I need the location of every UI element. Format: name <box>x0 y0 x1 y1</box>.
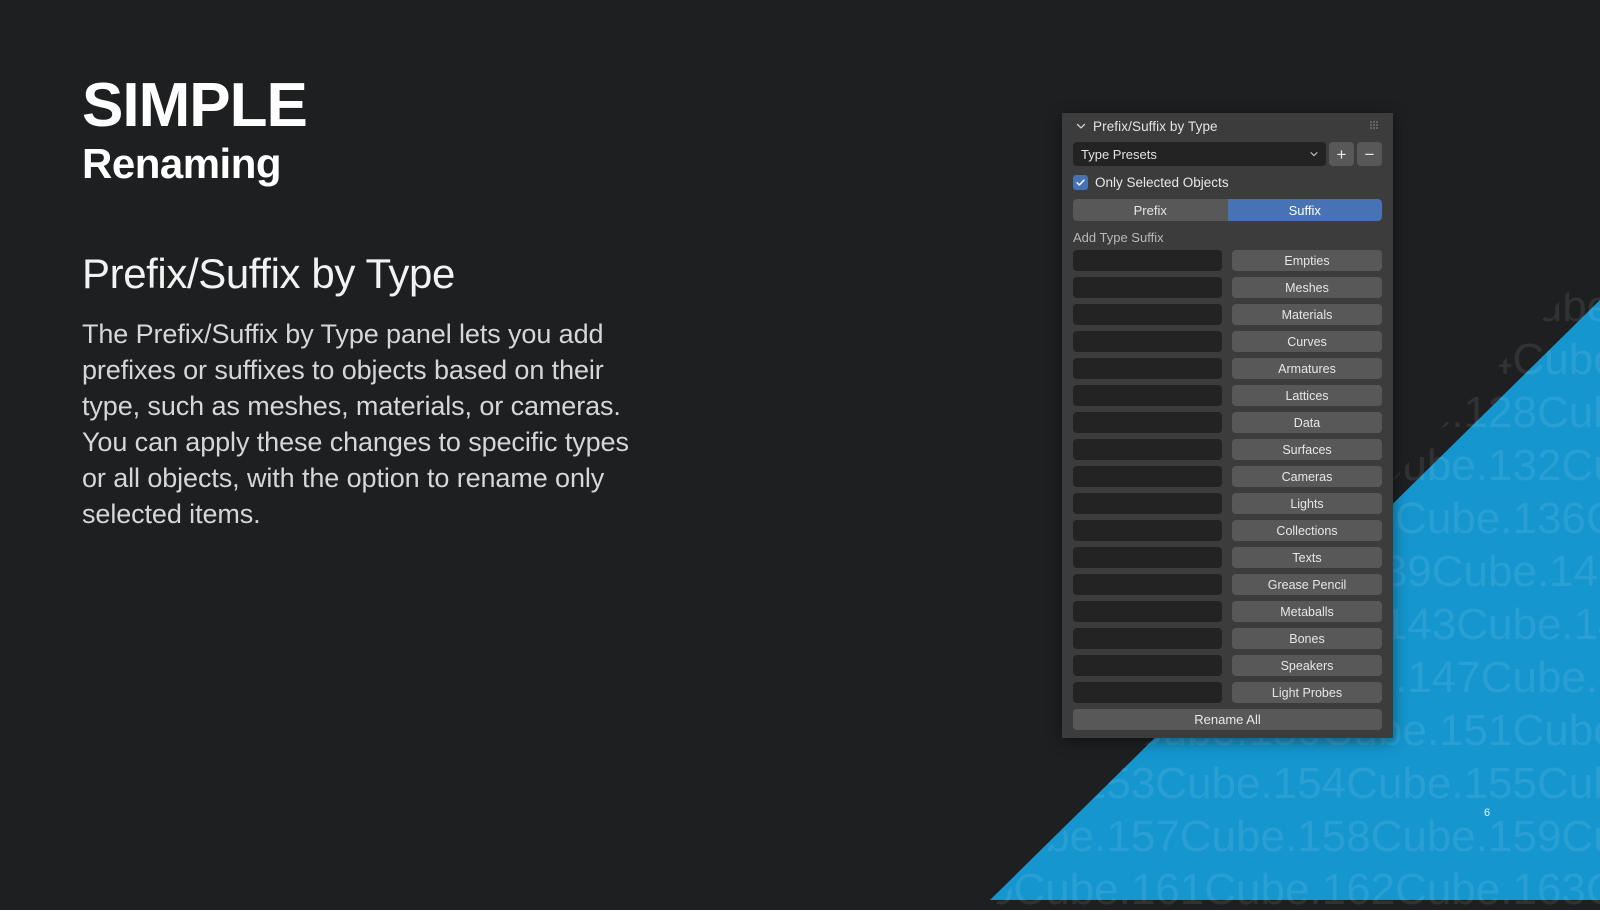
type-affix-input-data[interactable] <box>1073 412 1222 433</box>
type-affix-input-light-probes[interactable] <box>1073 682 1222 703</box>
type-row: Metaballs <box>1073 601 1382 622</box>
type-row: Speakers <box>1073 655 1382 676</box>
type-row: Cameras <box>1073 466 1382 487</box>
rename-all-button[interactable]: Rename All <box>1073 709 1382 730</box>
page-number: 6 <box>1484 807 1490 819</box>
type-row: Materials <box>1073 304 1382 325</box>
type-row: Texts <box>1073 547 1382 568</box>
type-button-meshes[interactable]: Meshes <box>1232 277 1382 298</box>
type-button-speakers[interactable]: Speakers <box>1232 655 1382 676</box>
type-presets-row: Type Presets + − <box>1073 142 1382 166</box>
type-affix-input-empties[interactable] <box>1073 250 1222 271</box>
section-heading: Prefix/Suffix by Type <box>82 250 455 298</box>
remove-preset-button[interactable]: − <box>1357 142 1382 166</box>
type-affix-input-lights[interactable] <box>1073 493 1222 514</box>
type-row: Bones <box>1073 628 1382 649</box>
type-presets-dropdown[interactable]: Type Presets <box>1073 142 1326 166</box>
type-rows-list: EmptiesMeshesMaterialsCurvesArmaturesLat… <box>1073 250 1382 703</box>
type-row: Surfaces <box>1073 439 1382 460</box>
type-row: Empties <box>1073 250 1382 271</box>
type-affix-input-surfaces[interactable] <box>1073 439 1222 460</box>
type-button-armatures[interactable]: Armatures <box>1232 358 1382 379</box>
type-row: Lights <box>1073 493 1382 514</box>
hero-subtitle: Renaming <box>82 138 702 190</box>
type-affix-input-metaballs[interactable] <box>1073 601 1222 622</box>
type-row: Lattices <box>1073 385 1382 406</box>
panel-header[interactable]: Prefix/Suffix by Type <box>1062 113 1393 139</box>
drag-grip-icon[interactable] <box>1370 121 1381 130</box>
type-row: Curves <box>1073 331 1382 352</box>
type-row: Light Probes <box>1073 682 1382 703</box>
type-row: Armatures <box>1073 358 1382 379</box>
type-row: Data <box>1073 412 1382 433</box>
type-affix-input-speakers[interactable] <box>1073 655 1222 676</box>
type-button-surfaces[interactable]: Surfaces <box>1232 439 1382 460</box>
prefix-suffix-panel: Prefix/Suffix by Type Type Presets + − <box>1062 113 1393 738</box>
tab-suffix[interactable]: Suffix <box>1228 199 1383 221</box>
type-button-texts[interactable]: Texts <box>1232 547 1382 568</box>
type-affix-input-texts[interactable] <box>1073 547 1222 568</box>
only-selected-objects-label: Only Selected Objects <box>1095 175 1229 190</box>
type-button-lattices[interactable]: Lattices <box>1232 385 1382 406</box>
type-affix-input-collections[interactable] <box>1073 520 1222 541</box>
hero-title: SIMPLE <box>82 74 702 138</box>
panel-title: Prefix/Suffix by Type <box>1093 119 1218 134</box>
type-presets-value: Type Presets <box>1081 147 1157 162</box>
type-button-bones[interactable]: Bones <box>1232 628 1382 649</box>
mode-tabs: Prefix Suffix <box>1073 199 1382 221</box>
type-button-metaballs[interactable]: Metaballs <box>1232 601 1382 622</box>
type-button-materials[interactable]: Materials <box>1232 304 1382 325</box>
type-affix-input-lattices[interactable] <box>1073 385 1222 406</box>
type-button-data[interactable]: Data <box>1232 412 1382 433</box>
body-copy: The Prefix/Suffix by Type panel lets you… <box>82 316 652 532</box>
type-affix-input-curves[interactable] <box>1073 331 1222 352</box>
check-icon <box>1075 177 1086 188</box>
chevron-down-icon[interactable] <box>1074 119 1088 133</box>
only-selected-objects-checkbox[interactable] <box>1073 175 1088 190</box>
type-button-lights[interactable]: Lights <box>1232 493 1382 514</box>
type-button-cameras[interactable]: Cameras <box>1232 466 1382 487</box>
type-affix-input-armatures[interactable] <box>1073 358 1222 379</box>
type-affix-input-grease-pencil[interactable] <box>1073 574 1222 595</box>
type-row: Grease Pencil <box>1073 574 1382 595</box>
chevron-down-icon <box>1308 148 1320 160</box>
type-button-light-probes[interactable]: Light Probes <box>1232 682 1382 703</box>
type-affix-input-meshes[interactable] <box>1073 277 1222 298</box>
add-preset-button[interactable]: + <box>1329 142 1354 166</box>
type-button-empties[interactable]: Empties <box>1232 250 1382 271</box>
type-button-grease-pencil[interactable]: Grease Pencil <box>1232 574 1382 595</box>
type-row: Meshes <box>1073 277 1382 298</box>
type-affix-input-bones[interactable] <box>1073 628 1222 649</box>
type-button-collections[interactable]: Collections <box>1232 520 1382 541</box>
type-affix-input-cameras[interactable] <box>1073 466 1222 487</box>
type-affix-input-materials[interactable] <box>1073 304 1222 325</box>
type-row: Collections <box>1073 520 1382 541</box>
add-type-section-label: Add Type Suffix <box>1073 230 1382 245</box>
only-selected-objects-row[interactable]: Only Selected Objects <box>1073 174 1382 191</box>
panel-body: Type Presets + − Only Selected Objects P… <box>1062 142 1393 730</box>
type-button-curves[interactable]: Curves <box>1232 331 1382 352</box>
hero-text-block: SIMPLE Renaming <box>82 74 702 190</box>
tab-prefix[interactable]: Prefix <box>1073 199 1228 221</box>
